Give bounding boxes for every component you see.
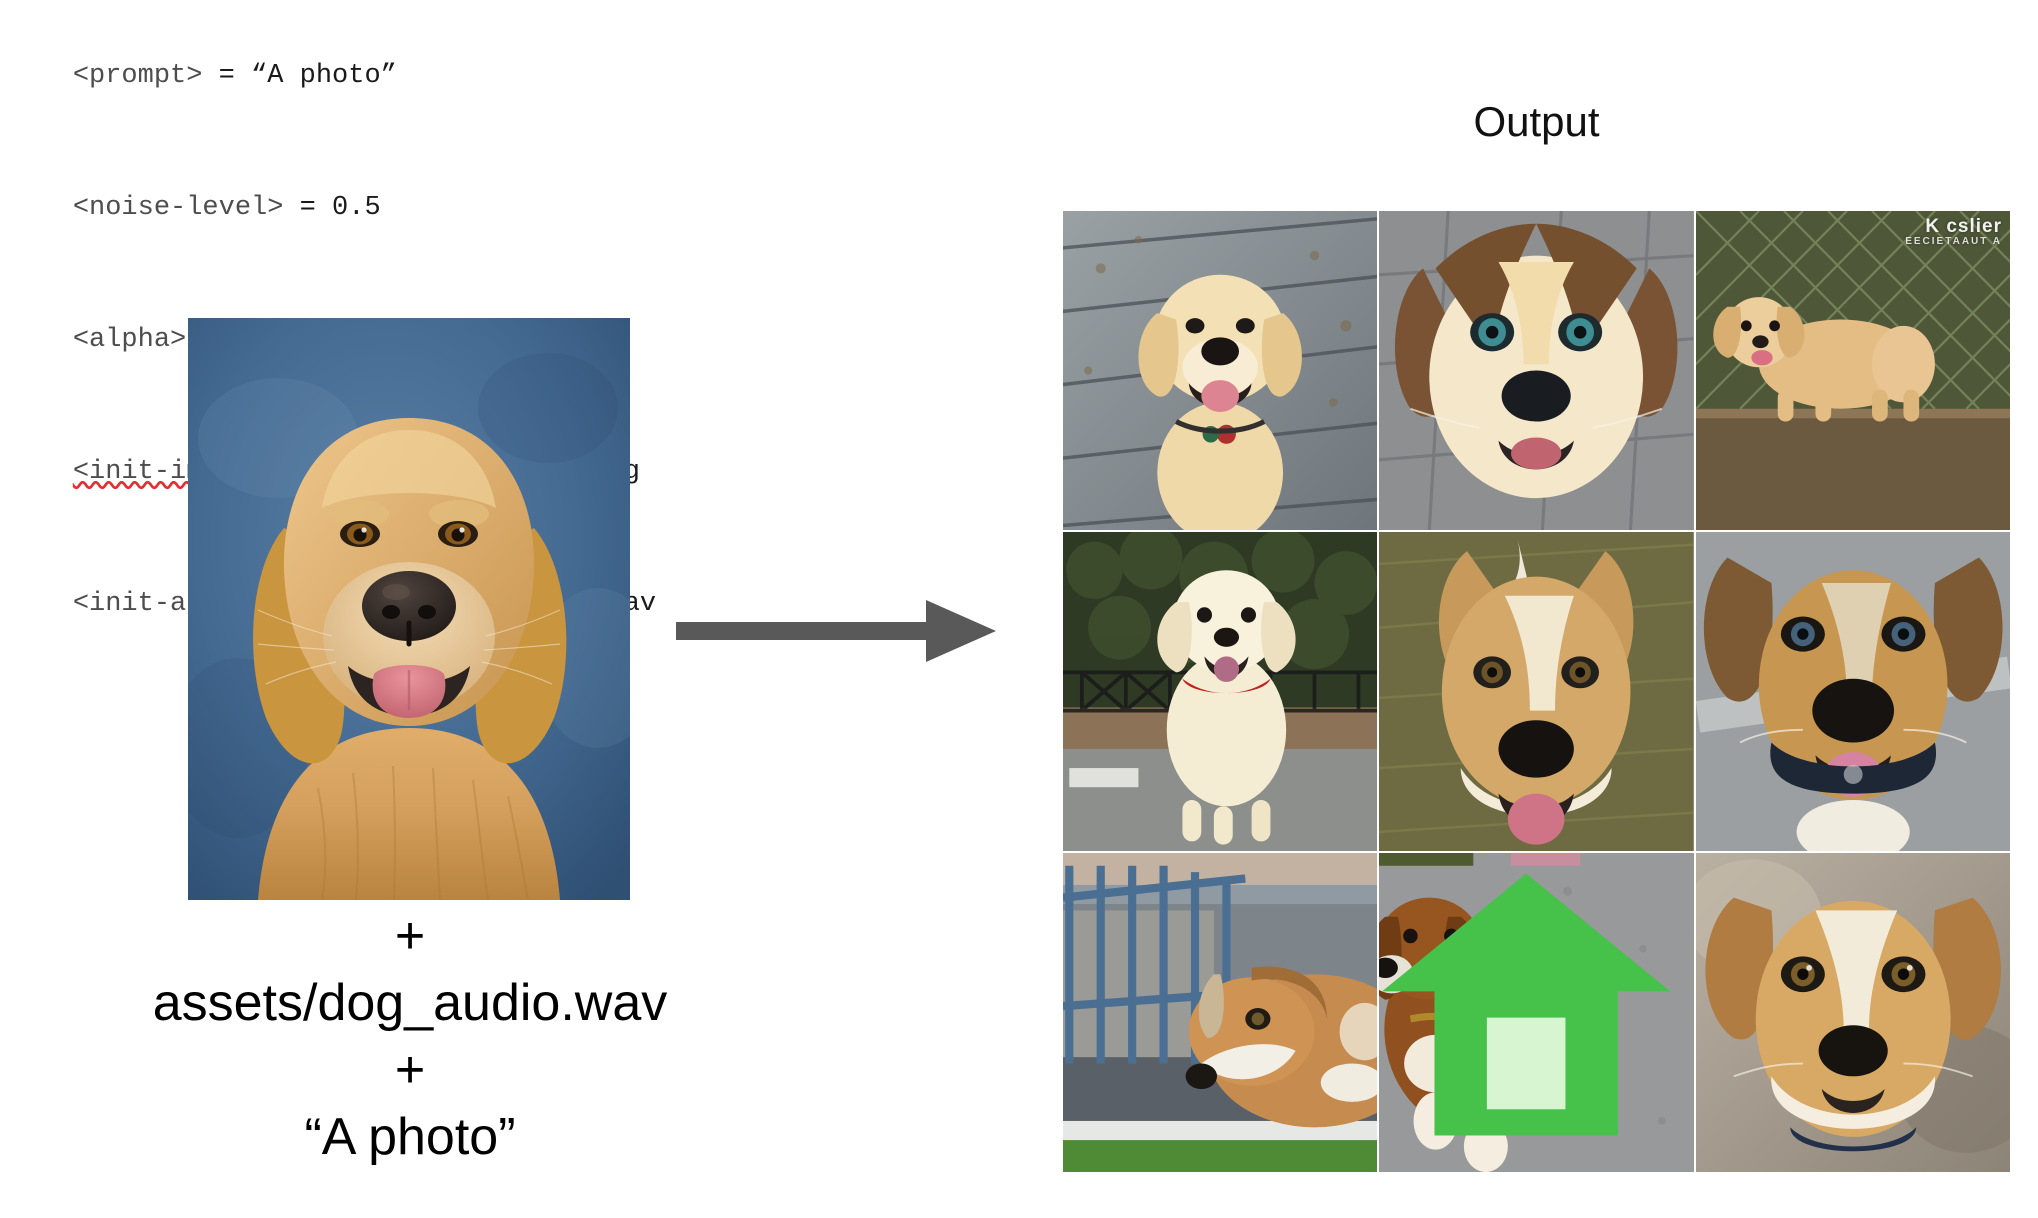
output-grid-cell[interactable] bbox=[1696, 853, 2010, 1172]
config-line: <noise-level> = 0.5 bbox=[8, 142, 828, 274]
output-grid-cell[interactable] bbox=[1379, 532, 1693, 851]
output-grid-cell[interactable] bbox=[1063, 211, 1377, 530]
config-line: <prompt> = “A photo” bbox=[8, 10, 828, 142]
input-caption-stack: + assets/dog_audio.wav + “A photo” bbox=[0, 905, 820, 1173]
plus-symbol: + bbox=[0, 905, 820, 967]
config-value: = “A photo” bbox=[202, 61, 396, 91]
config-token: <alpha> bbox=[73, 325, 186, 355]
plus-symbol: + bbox=[0, 1039, 820, 1101]
prompt-label: “A photo” bbox=[0, 1101, 820, 1173]
output-grid-cell[interactable] bbox=[1696, 532, 2010, 851]
output-grid-cell[interactable] bbox=[1379, 853, 1693, 1172]
flow-arrow-right-icon bbox=[676, 600, 996, 662]
image-watermark: K cslier EECIETAAUT A bbox=[1905, 217, 2002, 247]
config-token: <noise-level> bbox=[73, 193, 284, 223]
config-token: <prompt> bbox=[73, 61, 203, 91]
output-grid-cell[interactable] bbox=[1379, 211, 1693, 530]
output-title: Output bbox=[1063, 98, 2010, 146]
input-dog-photo bbox=[188, 318, 630, 900]
output-image-grid: K cslier EECIETAAUT A bbox=[1063, 211, 2010, 1172]
config-value: = 0.5 bbox=[283, 193, 380, 223]
output-grid-cell[interactable]: K cslier EECIETAAUT A bbox=[1696, 211, 2010, 530]
output-grid-cell[interactable] bbox=[1063, 853, 1377, 1172]
house-logo-icon bbox=[1379, 853, 1683, 1164]
watermark-sub: EECIETAAUT A bbox=[1905, 237, 2002, 248]
audio-file-label: assets/dog_audio.wav bbox=[0, 967, 820, 1039]
output-grid-cell[interactable] bbox=[1063, 532, 1377, 851]
watermark-main: K cslier bbox=[1925, 216, 2002, 237]
